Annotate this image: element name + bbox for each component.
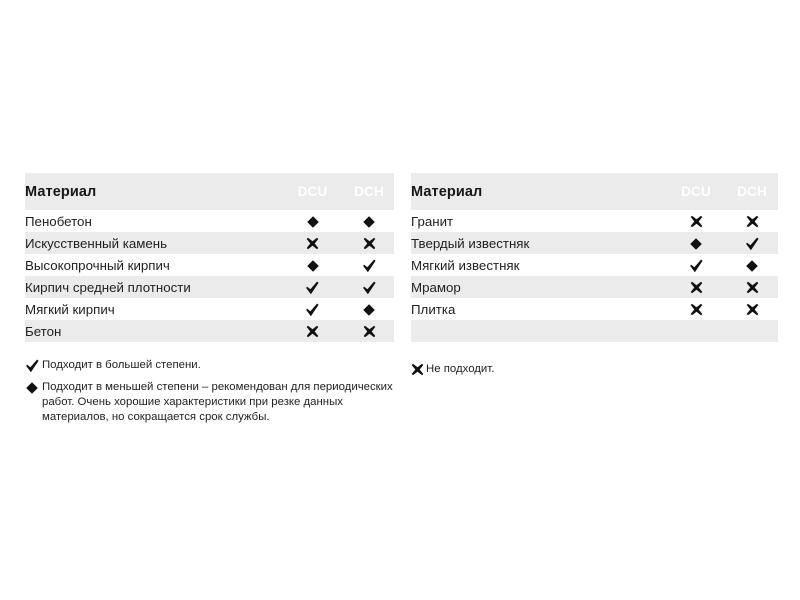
cross-mark-icon <box>306 325 319 338</box>
dcu-rating-cell <box>285 298 340 320</box>
table-row: Искусственный камень <box>25 232 394 254</box>
column-header-dch: DCH <box>344 173 394 210</box>
check-mark-icon <box>305 281 320 295</box>
materials-table-right: Материал DCU DCH ГранитТвердый известняк… <box>411 173 778 342</box>
materials-table-left: Материал DCU DCH ПенобетонИскусственный … <box>25 173 394 342</box>
table-header-row: Материал DCU DCH <box>25 173 394 210</box>
table-row-empty <box>411 320 778 342</box>
table-row: Высокопрочный кирпич <box>25 254 394 276</box>
table-row: Бетон <box>25 320 394 342</box>
dch-rating-cell <box>344 232 394 254</box>
dcu-rating-cell <box>670 298 722 320</box>
table-body: Материал DCU DCH ПенобетонИскусственный … <box>25 173 394 342</box>
diamond-mark-icon <box>362 215 376 229</box>
dch-rating-cell <box>726 232 778 254</box>
check-mark-icon <box>745 237 760 251</box>
check-mark-icon <box>689 259 704 273</box>
legend-marker <box>25 380 42 396</box>
dcu-rating-cell <box>670 276 722 298</box>
cross-mark-icon <box>690 215 703 228</box>
legend-marker <box>25 358 42 374</box>
dcu-rating-cell <box>285 276 340 298</box>
dch-rating-cell <box>344 320 394 342</box>
column-header-dcu: DCU <box>670 173 722 210</box>
cross-mark-icon <box>746 281 759 294</box>
cross-mark-icon <box>690 303 703 316</box>
material-name-cell: Мягкий известняк <box>411 254 670 276</box>
diamond-mark-icon <box>689 237 703 251</box>
material-name-cell: Твердый известняк <box>411 232 670 254</box>
legend-left: Подходит в большей степени.Подходит в ме… <box>25 358 397 432</box>
column-header-material: Материал <box>25 173 285 210</box>
diamond-mark-icon <box>306 259 320 273</box>
diamond-mark-icon <box>362 303 376 317</box>
table-row: Мрамор <box>411 276 778 298</box>
dcu-rating-cell <box>285 210 340 232</box>
dcu-rating-cell <box>285 232 340 254</box>
material-name-cell: Гранит <box>411 210 670 232</box>
cross-mark-icon <box>306 237 319 250</box>
dch-rating-cell <box>726 298 778 320</box>
comparison-table: Материал DCU DCH ПенобетонИскусственный … <box>25 173 394 342</box>
cross-mark-icon <box>690 281 703 294</box>
check-mark-icon <box>305 303 320 317</box>
dch-rating-cell <box>344 298 394 320</box>
table-row: Гранит <box>411 210 778 232</box>
cross-mark-icon <box>363 237 376 250</box>
empty-cell <box>726 320 778 342</box>
dch-rating-cell <box>726 210 778 232</box>
material-name-cell: Кирпич средней плотности <box>25 276 285 298</box>
dch-rating-cell <box>344 254 394 276</box>
legend-description: Подходит в большей степени. <box>42 358 397 373</box>
dch-rating-cell <box>726 276 778 298</box>
table-body: Материал DCU DCH ГранитТвердый известняк… <box>411 173 778 342</box>
check-mark-icon <box>362 259 377 273</box>
legend-description: Подходит в меньшей степени – рекомендова… <box>42 380 397 425</box>
table-row: Плитка <box>411 298 778 320</box>
table-row: Твердый известняк <box>411 232 778 254</box>
cross-mark-icon <box>411 363 424 376</box>
material-name-cell: Пенобетон <box>25 210 285 232</box>
column-header-material: Материал <box>411 173 670 210</box>
table-row: Мягкий известняк <box>411 254 778 276</box>
table-row: Кирпич средней плотности <box>25 276 394 298</box>
dch-rating-cell <box>344 276 394 298</box>
check-mark-icon <box>25 359 40 373</box>
empty-cell <box>411 320 670 342</box>
table-row: Мягкий кирпич <box>25 298 394 320</box>
diamond-mark-icon <box>306 215 320 229</box>
material-name-cell: Плитка <box>411 298 670 320</box>
cross-mark-icon <box>363 325 376 338</box>
material-name-cell: Бетон <box>25 320 285 342</box>
empty-cell <box>670 320 722 342</box>
cross-mark-icon <box>746 215 759 228</box>
comparison-table: Материал DCU DCH ГранитТвердый известняк… <box>411 173 778 342</box>
diamond-mark-icon <box>745 259 759 273</box>
dch-rating-cell <box>344 210 394 232</box>
table-header-row: Материал DCU DCH <box>411 173 778 210</box>
dcu-rating-cell <box>670 210 722 232</box>
legend-item: Не подходит. <box>411 362 771 378</box>
legend-marker <box>411 362 426 378</box>
check-mark-icon <box>362 281 377 295</box>
legend-right: Не подходит. <box>411 362 771 378</box>
page-root: Материал DCU DCH ПенобетонИскусственный … <box>0 0 800 600</box>
material-name-cell: Мягкий кирпич <box>25 298 285 320</box>
material-name-cell: Мрамор <box>411 276 670 298</box>
material-name-cell: Искусственный камень <box>25 232 285 254</box>
table-row: Пенобетон <box>25 210 394 232</box>
diamond-mark-icon <box>25 381 39 395</box>
dcu-rating-cell <box>285 320 340 342</box>
legend-item: Подходит в большей степени. <box>25 358 397 374</box>
column-header-dch: DCH <box>726 173 778 210</box>
column-header-dcu: DCU <box>285 173 340 210</box>
cross-mark-icon <box>746 303 759 316</box>
material-name-cell: Высокопрочный кирпич <box>25 254 285 276</box>
legend-description: Не подходит. <box>426 362 771 377</box>
dcu-rating-cell <box>285 254 340 276</box>
legend-item: Подходит в меньшей степени – рекомендова… <box>25 380 397 425</box>
dcu-rating-cell <box>670 254 722 276</box>
dcu-rating-cell <box>670 232 722 254</box>
dch-rating-cell <box>726 254 778 276</box>
